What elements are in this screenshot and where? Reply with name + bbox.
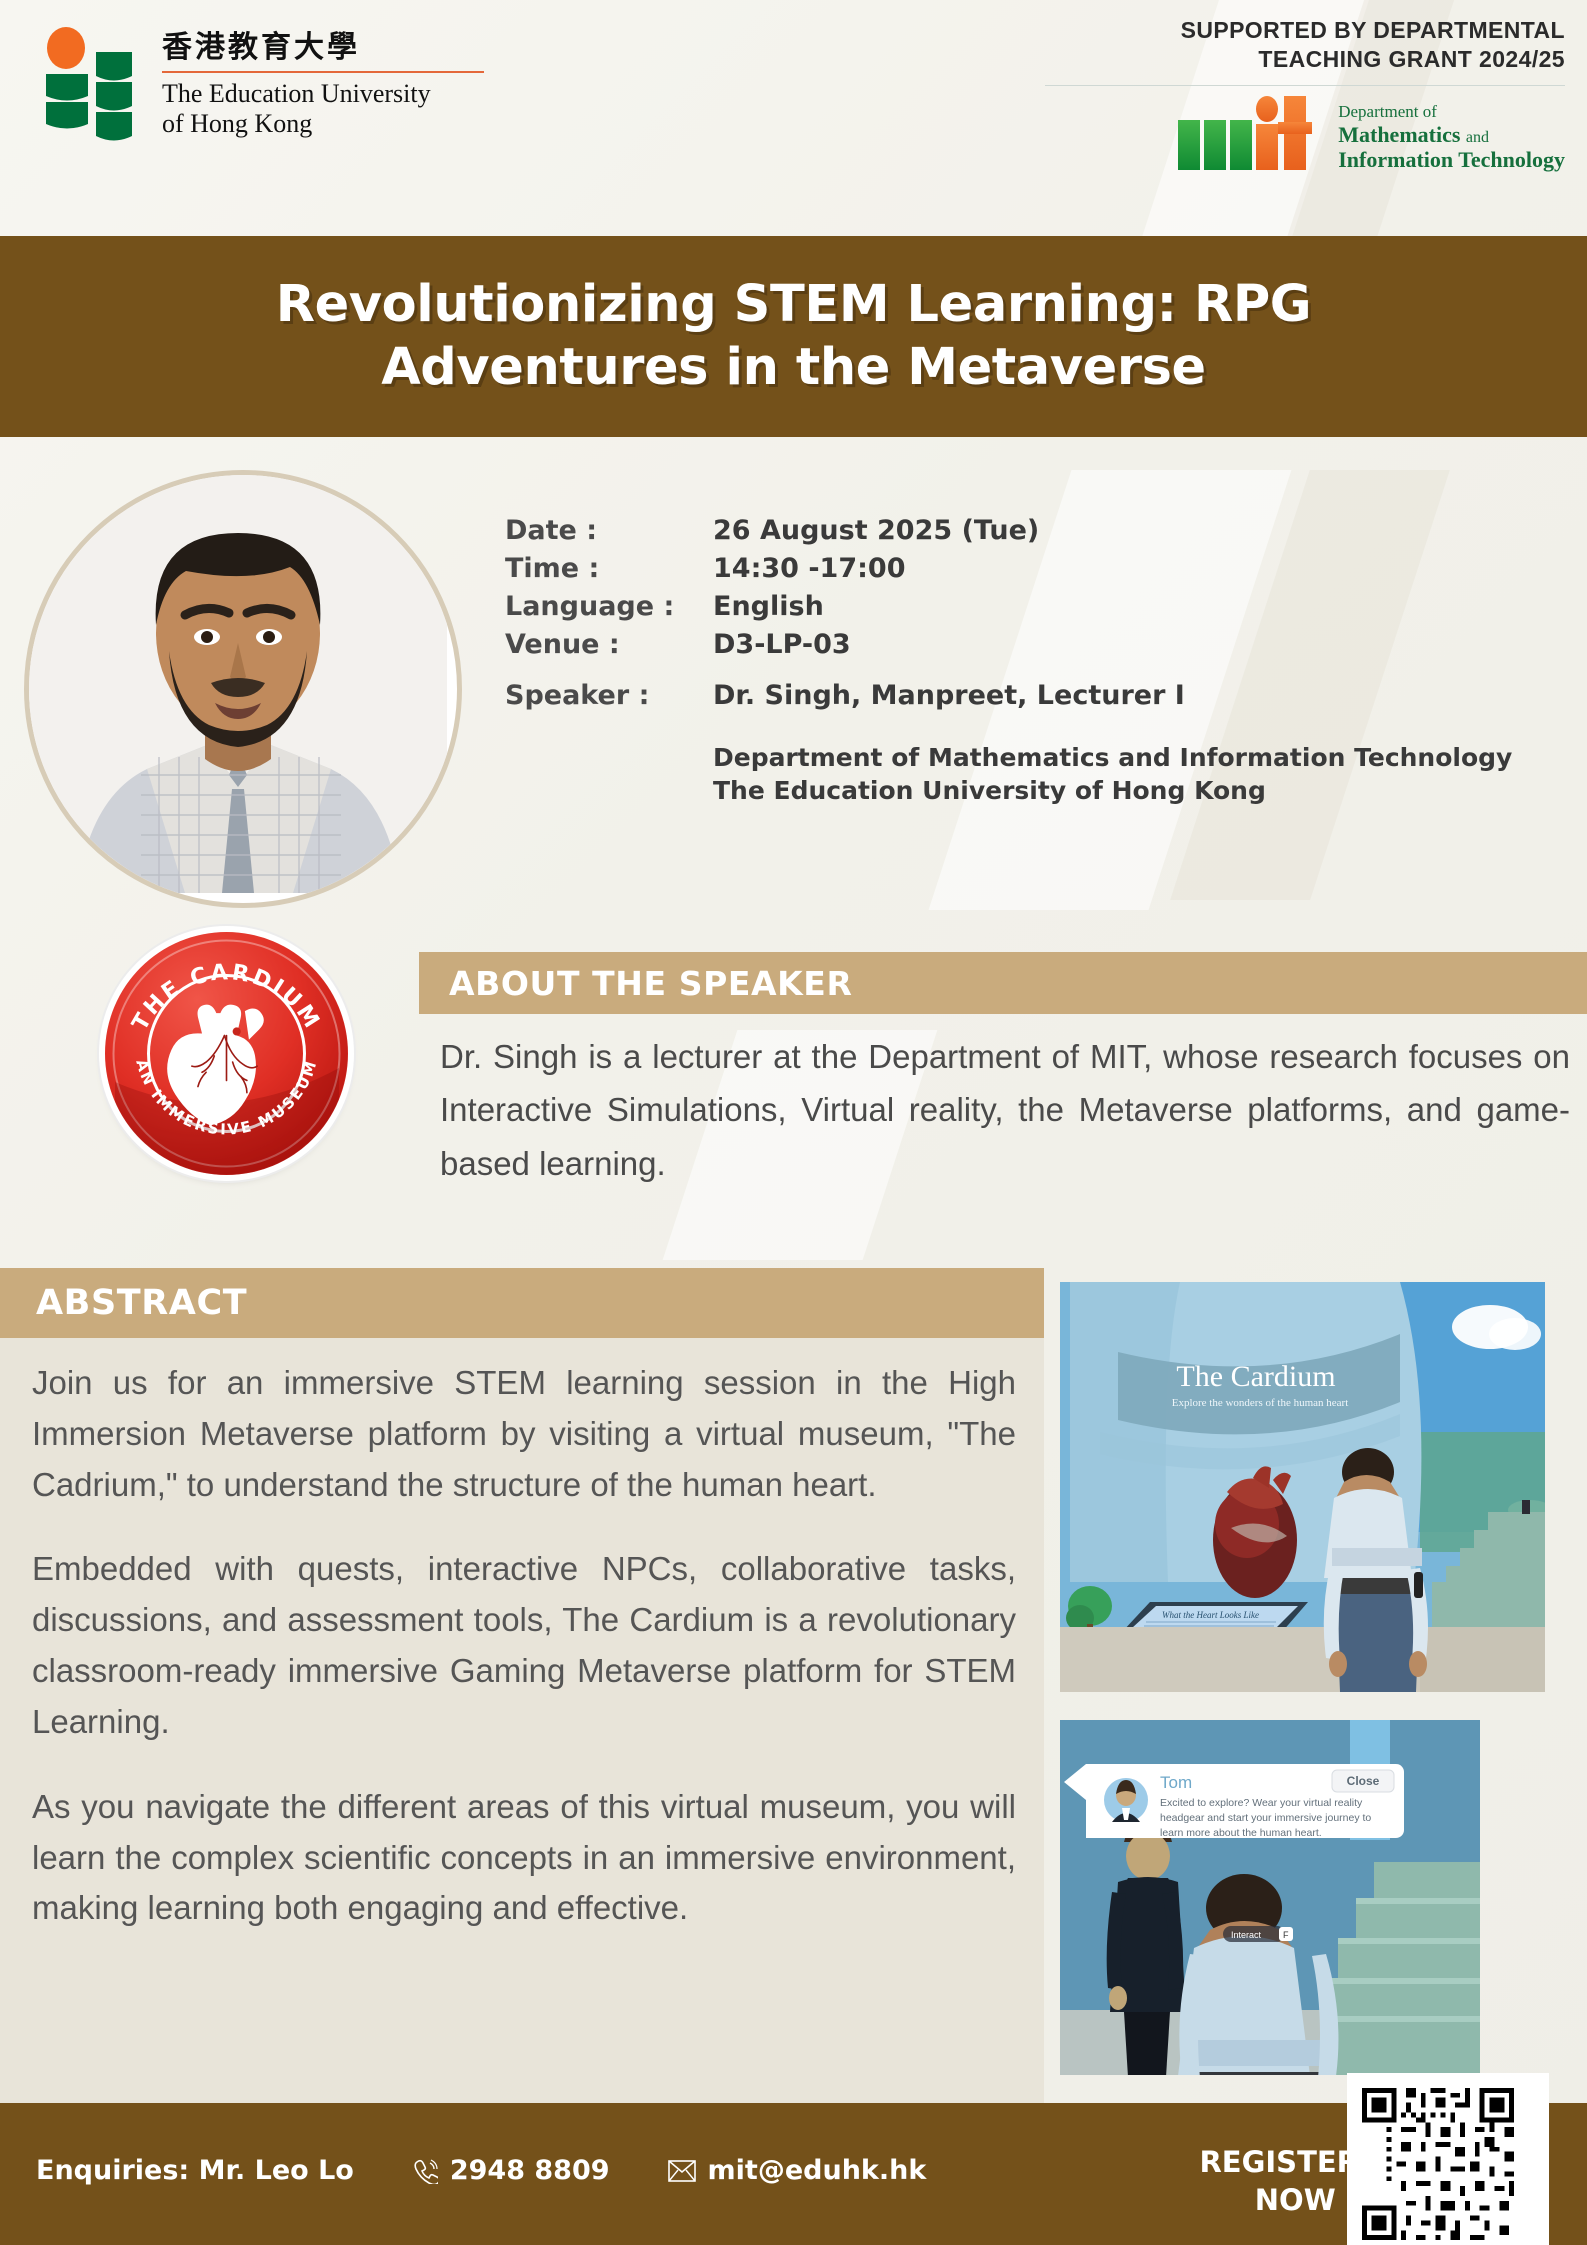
metaverse-screenshot-npc: Interact F Tom Excited to explore? Wear … bbox=[1060, 1720, 1480, 2075]
detail-value-date: 26 August 2025 (Tue) bbox=[713, 515, 1039, 546]
register-line2: NOW ! bbox=[1199, 2181, 1359, 2219]
event-details: Date : 26 August 2025 (Tue) Time : 14:30… bbox=[505, 515, 1555, 807]
detail-label-time: Time : bbox=[505, 553, 713, 584]
grant-line-2: TEACHING GRANT 2024/25 bbox=[925, 45, 1565, 74]
grant-acknowledgement: SUPPORTED BY DEPARTMENTAL TEACHING GRANT… bbox=[925, 16, 1565, 172]
npc-message-line3: learn more about the human heart. bbox=[1160, 1827, 1322, 1839]
footer-email[interactable]: mit@eduhk.hk bbox=[708, 2155, 927, 2186]
abstract-heading: ABSTRACT bbox=[36, 1283, 247, 1323]
abstract-paragraph-1: Join us for an immersive STEM learning s… bbox=[32, 1358, 1016, 1510]
metaverse-screenshot-museum: The Cardium Explore the wonders of the h… bbox=[1060, 1282, 1545, 1692]
npc-name-text: Tom bbox=[1160, 1773, 1192, 1792]
detail-row-time: Time : 14:30 -17:00 bbox=[505, 553, 1555, 584]
npc-close-button-label: Close bbox=[1347, 1774, 1380, 1788]
eduhk-wordmark: 香港教育大學 The Education University of Hong … bbox=[162, 26, 484, 140]
detail-row-venue: Venue : D3-LP-03 bbox=[505, 629, 1555, 660]
poster-header: 香港教育大學 The Education University of Hong … bbox=[0, 0, 1587, 236]
footer-enquiries: Enquiries: Mr. Leo Lo bbox=[36, 2155, 354, 2186]
detail-value-speaker: Dr. Singh, Manpreet, Lecturer I bbox=[713, 680, 1185, 711]
about-speaker-heading: ABOUT THE SPEAKER bbox=[449, 964, 852, 1003]
svg-text:F: F bbox=[1283, 1930, 1289, 1940]
mit-dept-line3: Information Technology bbox=[1338, 147, 1565, 172]
about-speaker-body: Dr. Singh is a lecturer at the Departmen… bbox=[440, 1030, 1570, 1190]
mit-dept-line1: Department of bbox=[1338, 102, 1565, 121]
interact-chip-label: Interact bbox=[1231, 1930, 1262, 1940]
email-icon bbox=[668, 2160, 696, 2182]
mit-dept-math: Mathematics bbox=[1338, 122, 1460, 147]
detail-label-date: Date : bbox=[505, 515, 713, 546]
speaker-affiliation: Department of Mathematics and Informatio… bbox=[713, 741, 1555, 807]
eduhk-name-english-line2: of Hong Kong bbox=[162, 109, 484, 140]
eduhk-logo-mark-icon bbox=[28, 26, 148, 146]
eduhk-name-chinese: 香港教育大學 bbox=[162, 32, 484, 64]
detail-row-language: Language : English bbox=[505, 591, 1555, 622]
poster-title-line1: Revolutionizing STEM Learning: RPG bbox=[276, 274, 1312, 336]
about-speaker-header: ABOUT THE SPEAKER bbox=[419, 952, 1587, 1014]
poster-footer: Enquiries: Mr. Leo Lo 2948 8809 mit@eduh… bbox=[0, 2103, 1587, 2245]
museum-subtitle-text: Explore the wonders of the human heart bbox=[1172, 1397, 1349, 1409]
eduhk-logo: 香港教育大學 The Education University of Hong … bbox=[28, 26, 484, 146]
npc-message-line1: Excited to explore? Wear your virtual re… bbox=[1160, 1797, 1363, 1809]
detail-value-time: 14:30 -17:00 bbox=[713, 553, 906, 584]
eduhk-name-english-line1: The Education University bbox=[162, 79, 484, 110]
grant-divider bbox=[1045, 85, 1565, 86]
speaker-portrait bbox=[24, 470, 462, 908]
mit-department-name: Department of Mathematics and Informatio… bbox=[1338, 102, 1565, 172]
npc-message-line2: headgear and start your immersive journe… bbox=[1160, 1812, 1371, 1824]
title-band: Revolutionizing STEM Learning: RPG Adven… bbox=[0, 236, 1587, 437]
register-callout: REGISTER NOW ! bbox=[1199, 2143, 1359, 2220]
footer-contact-group: Enquiries: Mr. Leo Lo 2948 8809 mit@eduh… bbox=[36, 2155, 926, 2186]
abstract-paragraph-3: As you navigate the different areas of t… bbox=[32, 1782, 1016, 1934]
register-line1: REGISTER bbox=[1199, 2143, 1359, 2181]
museum-title-text: The Cardium bbox=[1176, 1360, 1335, 1393]
mit-dept-and: and bbox=[1466, 129, 1489, 146]
abstract-section: ABSTRACT bbox=[0, 1268, 1044, 1338]
detail-row-speaker: Speaker : Dr. Singh, Manpreet, Lecturer … bbox=[505, 680, 1555, 711]
abstract-paragraph-2: Embedded with quests, interactive NPCs, … bbox=[32, 1544, 1016, 1747]
detail-label-language: Language : bbox=[505, 591, 713, 622]
speaker-affiliation-line2: The Education University of Hong Kong bbox=[713, 774, 1555, 807]
museum-plaque-label: What the Heart Looks Like bbox=[1162, 1610, 1259, 1620]
mit-logo-mark-icon bbox=[1172, 92, 1328, 172]
poster-title-line2: Adventures in the Metaverse bbox=[276, 337, 1312, 399]
detail-value-language: English bbox=[713, 591, 824, 622]
speaker-affiliation-line1: Department of Mathematics and Informatio… bbox=[713, 741, 1555, 774]
cardium-logo-badge: THE CARDIUM AN IMMERSIVE MUSEUM bbox=[105, 932, 348, 1175]
detail-label-venue: Venue : bbox=[505, 629, 713, 660]
abstract-header: ABSTRACT bbox=[0, 1268, 1044, 1338]
poster-root: 香港教育大學 The Education University of Hong … bbox=[0, 0, 1587, 2245]
poster-title: Revolutionizing STEM Learning: RPG Adven… bbox=[186, 274, 1402, 398]
mit-dept-line2: Mathematics and bbox=[1338, 122, 1565, 147]
phone-icon bbox=[412, 2158, 438, 2184]
registration-qr-code[interactable] bbox=[1347, 2073, 1549, 2245]
detail-row-date: Date : 26 August 2025 (Tue) bbox=[505, 515, 1555, 546]
abstract-body: Join us for an immersive STEM learning s… bbox=[32, 1358, 1016, 1934]
mit-department-logo: Department of Mathematics and Informatio… bbox=[925, 92, 1565, 172]
footer-phone[interactable]: 2948 8809 bbox=[450, 2155, 610, 2186]
grant-line-1: SUPPORTED BY DEPARTMENTAL bbox=[925, 16, 1565, 45]
detail-value-venue: D3-LP-03 bbox=[713, 629, 851, 660]
detail-label-speaker: Speaker : bbox=[505, 680, 713, 711]
eduhk-divider bbox=[162, 71, 484, 73]
